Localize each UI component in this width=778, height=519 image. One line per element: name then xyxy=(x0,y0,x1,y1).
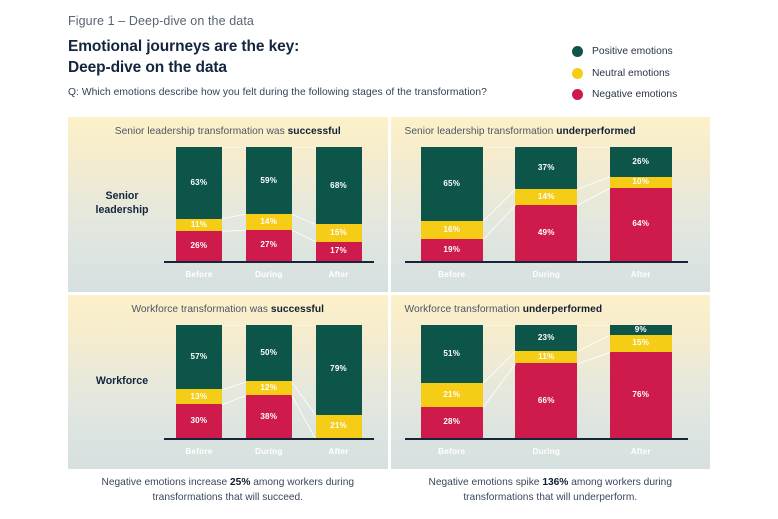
panel-title-emphasis: underperformed xyxy=(523,304,602,315)
bar-segment[interactable]: 28% xyxy=(421,407,483,439)
x-tick-label: During xyxy=(234,447,304,456)
panel-title: Workforce transformation underperformed xyxy=(391,304,711,315)
bar-segment[interactable]: 49% xyxy=(515,205,577,261)
bar-segment[interactable]: 51% xyxy=(421,325,483,383)
footnote: Negative emotions spike 136% among worke… xyxy=(391,476,711,506)
bar-value-label: 27% xyxy=(260,241,277,249)
x-axis-line xyxy=(164,438,374,440)
bar-value-label: 65% xyxy=(443,180,460,188)
bar-value-label: 30% xyxy=(190,417,207,425)
bar-value-label: 12% xyxy=(260,384,277,392)
chart-panel-senior-underperformed: Senior leadership transformation underpe… xyxy=(391,117,711,292)
bar-segment[interactable]: 79% xyxy=(316,325,362,415)
legend-label: Negative emotions xyxy=(592,89,677,100)
bar-segment[interactable]: 26% xyxy=(176,231,222,261)
bar-value-label: 9% xyxy=(635,326,647,334)
bar-value-label: 14% xyxy=(538,193,555,201)
panel-title-prefix: Workforce transformation xyxy=(405,304,523,315)
bar-group[interactable]: 37%14%49% xyxy=(515,147,577,261)
bar-group[interactable]: 63%11%26% xyxy=(176,147,222,261)
headline-line-2: Deep-dive on the data xyxy=(68,58,299,79)
survey-question: Q: Which emotions describe how you felt … xyxy=(68,87,487,98)
chart-panel-senior-successful: Senior leadership transformation was suc… xyxy=(68,117,388,292)
bar-segment[interactable]: 12% xyxy=(246,381,292,395)
panel-title-emphasis: underperformed xyxy=(556,126,635,137)
bar-value-label: 38% xyxy=(260,413,277,421)
panel-title-prefix: Senior leadership transformation xyxy=(405,126,557,137)
bar-segment[interactable]: 10% xyxy=(610,177,672,188)
bar-segment[interactable]: 9% xyxy=(610,325,672,335)
bar-value-label: 17% xyxy=(330,247,347,255)
panel-title-prefix: Senior leadership transformation was xyxy=(115,126,288,137)
x-axis-line xyxy=(405,261,689,263)
bar-group[interactable]: 50%12%38% xyxy=(246,325,292,439)
bar-value-label: 10% xyxy=(632,178,649,186)
bar-value-label: 59% xyxy=(260,177,277,185)
bar-group[interactable]: 57%13%30% xyxy=(176,325,222,439)
bar-segment[interactable]: 27% xyxy=(246,230,292,261)
bar-value-label: 76% xyxy=(632,391,649,399)
bar-value-label: 28% xyxy=(443,418,460,426)
footnote-text-before: Negative emotions increase xyxy=(101,477,230,488)
circle-icon xyxy=(572,68,583,79)
bar-value-label: 19% xyxy=(443,246,460,254)
bar-segment[interactable]: 15% xyxy=(316,224,362,241)
bar-segment[interactable]: 11% xyxy=(515,351,577,364)
legend-label: Neutral emotions xyxy=(592,68,670,79)
bar-value-label: 26% xyxy=(632,158,649,166)
bar-segment[interactable]: 15% xyxy=(610,335,672,352)
bar-value-label: 68% xyxy=(330,182,347,190)
x-axis-line xyxy=(405,438,689,440)
figure-label: Figure 1 – Deep-dive on the data xyxy=(68,14,254,28)
panel-title: Senior leadership transformation was suc… xyxy=(68,126,388,137)
bar-segment[interactable]: 17% xyxy=(316,242,362,261)
bar-segment[interactable]: 57% xyxy=(176,325,222,390)
legend-item: Neutral emotions xyxy=(572,63,677,85)
bar-segment[interactable]: 11% xyxy=(176,219,222,232)
bar-group[interactable]: 9%15%76% xyxy=(610,325,672,439)
headline-line-1: Emotional journeys are the key: xyxy=(68,37,299,58)
x-tick-label: Before xyxy=(164,270,234,279)
plot-area: BeforeDuringAfter63%11%26%59%14%27%68%15… xyxy=(164,147,374,280)
x-tick-label: During xyxy=(234,270,304,279)
bar-value-label: 16% xyxy=(443,226,460,234)
bar-segment[interactable]: 38% xyxy=(246,395,292,438)
bar-segment[interactable]: 68% xyxy=(316,147,362,224)
bar-value-label: 49% xyxy=(538,229,555,237)
panel-title: Senior leadership transformation underpe… xyxy=(391,126,711,137)
bar-group[interactable]: 26%10%64% xyxy=(610,147,672,261)
plot-area: BeforeDuringAfter51%21%28%23%11%66%9%15%… xyxy=(405,325,689,458)
bar-value-label: 21% xyxy=(330,422,347,430)
bar-value-label: 14% xyxy=(260,218,277,226)
x-axis-line xyxy=(164,261,374,263)
x-tick-label: Before xyxy=(405,447,500,456)
bar-value-label: 50% xyxy=(260,349,277,357)
footnote-highlight-value: 25% xyxy=(230,477,250,488)
bar-value-label: 15% xyxy=(330,229,347,237)
bar-value-label: 11% xyxy=(191,221,207,229)
bar-value-label: 26% xyxy=(190,242,207,250)
row-label-line-2: leadership xyxy=(82,204,162,218)
chart-panel-workforce-successful: Workforce transformation was successfulW… xyxy=(68,295,388,470)
bar-segment[interactable]: 76% xyxy=(610,352,672,439)
legend-label: Positive emotions xyxy=(592,46,673,57)
bar-value-label: 11% xyxy=(538,353,554,361)
row-label: Workforce xyxy=(82,375,162,389)
bar-segment[interactable]: 19% xyxy=(421,239,483,261)
bar-group[interactable]: 59%14%27% xyxy=(246,147,292,261)
bar-segment[interactable]: 63% xyxy=(176,147,222,219)
bar-segment[interactable]: 66% xyxy=(515,363,577,438)
plot-area: BeforeDuringAfter65%16%19%37%14%49%26%10… xyxy=(405,147,689,280)
footnote-row: Negative emotions increase 25% among wor… xyxy=(68,476,710,506)
bar-segment[interactable]: 14% xyxy=(515,189,577,205)
footnote-highlight-value: 136% xyxy=(542,477,568,488)
bar-value-label: 66% xyxy=(538,397,555,405)
bar-segment[interactable]: 26% xyxy=(610,147,672,177)
bar-value-label: 37% xyxy=(538,164,555,172)
bar-segment[interactable]: 21% xyxy=(421,383,483,407)
footnote: Negative emotions increase 25% among wor… xyxy=(68,476,388,506)
bar-group[interactable]: 51%21%28% xyxy=(421,325,483,439)
bar-segment[interactable]: 50% xyxy=(246,325,292,382)
chart-panel-workforce-underperformed: Workforce transformation underperformedB… xyxy=(391,295,711,470)
x-tick-label: Before xyxy=(164,447,234,456)
x-tick-label: During xyxy=(499,270,594,279)
x-tick-label: After xyxy=(594,447,689,456)
panel-title: Workforce transformation was successful xyxy=(68,304,388,315)
bar-segment[interactable]: 23% xyxy=(515,325,577,351)
bar-segment[interactable]: 14% xyxy=(246,214,292,230)
bar-group[interactable]: 79%21% xyxy=(316,325,362,439)
circle-icon xyxy=(572,46,583,57)
bar-segment[interactable]: 13% xyxy=(176,389,222,404)
panel-grid: Senior leadership transformation was suc… xyxy=(68,117,710,469)
x-tick-label: After xyxy=(594,270,689,279)
bar-value-label: 51% xyxy=(443,350,460,358)
bar-group[interactable]: 68%15%17% xyxy=(316,147,362,261)
footnote-text-before: Negative emotions spike xyxy=(428,477,542,488)
x-tick-label: After xyxy=(304,447,374,456)
bar-segment[interactable]: 30% xyxy=(176,404,222,438)
bars-container: 63%11%26%59%14%27%68%15%17% xyxy=(164,147,374,261)
bar-segment[interactable]: 37% xyxy=(515,147,577,189)
bars-container: 57%13%30%50%12%38%79%21% xyxy=(164,325,374,439)
bar-value-label: 63% xyxy=(190,179,207,187)
bar-group[interactable]: 65%16%19% xyxy=(421,147,483,261)
bar-segment[interactable]: 59% xyxy=(246,147,292,214)
panel-title-emphasis: successful xyxy=(288,126,341,137)
panel-title-emphasis: successful xyxy=(271,304,324,315)
bar-segment[interactable]: 65% xyxy=(421,147,483,221)
panel-title-prefix: Workforce transformation was xyxy=(131,304,270,315)
figure-page: Figure 1 – Deep-dive on the data Emotion… xyxy=(0,0,778,519)
bar-value-label: 13% xyxy=(190,393,207,401)
chart-legend: Positive emotionsNeutral emotionsNegativ… xyxy=(572,41,677,106)
bar-group[interactable]: 23%11%66% xyxy=(515,325,577,439)
x-tick-label: After xyxy=(304,270,374,279)
legend-item: Positive emotions xyxy=(572,41,677,63)
bar-segment[interactable]: 64% xyxy=(610,188,672,261)
row-label: Seniorleadership xyxy=(82,190,162,218)
bar-value-label: 23% xyxy=(538,334,555,342)
bar-value-label: 15% xyxy=(632,339,649,347)
circle-icon xyxy=(572,89,583,100)
row-label-line-1: Senior xyxy=(82,190,162,204)
bar-value-label: 21% xyxy=(443,391,460,399)
x-tick-label: Before xyxy=(405,270,500,279)
page-title: Emotional journeys are the key: Deep-div… xyxy=(68,37,299,78)
bar-value-label: 57% xyxy=(190,353,207,361)
bar-segment[interactable]: 21% xyxy=(316,415,362,439)
x-tick-label: During xyxy=(499,447,594,456)
bars-container: 51%21%28%23%11%66%9%15%76% xyxy=(405,325,689,439)
bar-segment[interactable]: 16% xyxy=(421,221,483,239)
bar-value-label: 64% xyxy=(632,220,649,228)
legend-item: Negative emotions xyxy=(572,84,677,106)
bar-value-label: 79% xyxy=(330,365,347,373)
bars-container: 65%16%19%37%14%49%26%10%64% xyxy=(405,147,689,261)
plot-area: BeforeDuringAfter57%13%30%50%12%38%79%21… xyxy=(164,325,374,458)
